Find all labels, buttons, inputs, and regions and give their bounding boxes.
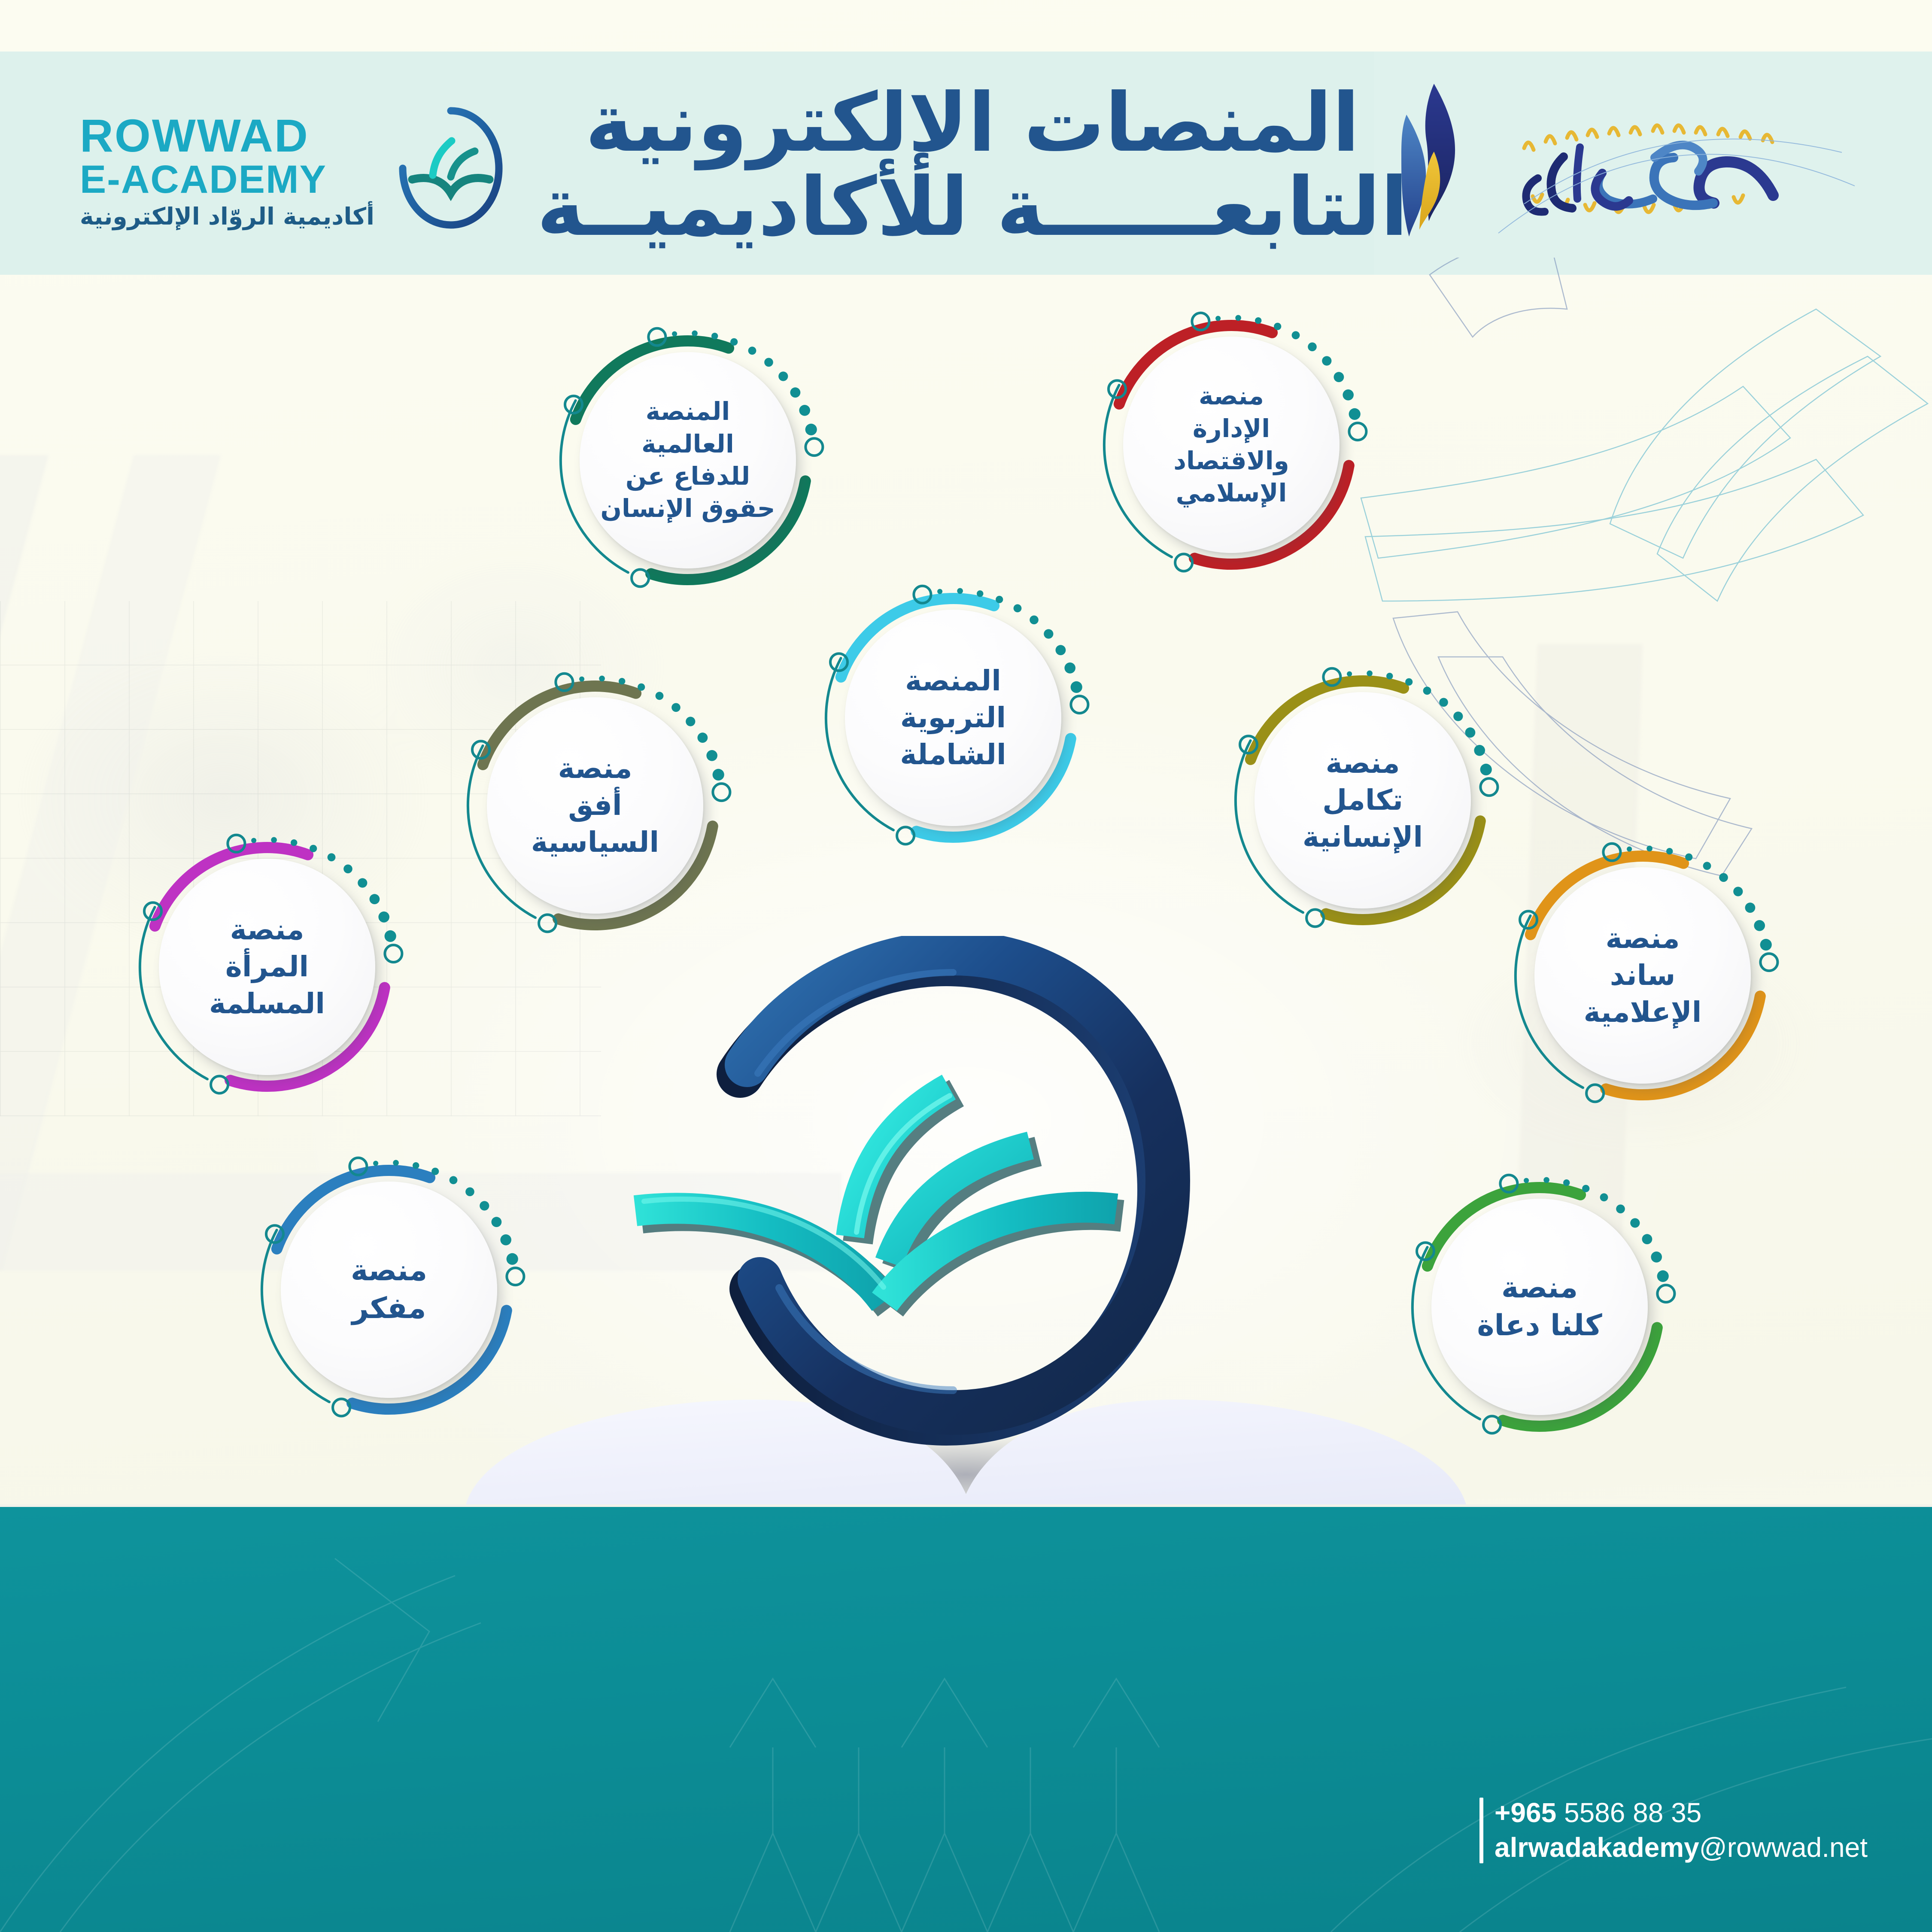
badge-node-ring — [1349, 423, 1366, 440]
badge-dot — [1657, 1270, 1669, 1282]
page-title-line1: المنصات الإلكترونية — [585, 81, 1360, 165]
badge-label-comprehensive-education: المنصةالتربويةالشاملة — [849, 610, 1057, 826]
badge-dot — [492, 1217, 502, 1227]
badge-label-line: العالمية — [641, 428, 734, 460]
badge-node-ring — [1071, 696, 1088, 713]
contact-accent-bar — [1479, 1798, 1483, 1863]
badge-dot — [370, 894, 380, 904]
badge-node-ring — [713, 784, 730, 801]
brand-name-line1: ROWWAD — [80, 112, 309, 159]
badge-dot — [1646, 846, 1653, 852]
badge-label-line: الإسلامي — [1176, 477, 1287, 509]
badge-node-ring — [1306, 909, 1324, 927]
badge-dot — [1474, 745, 1485, 756]
badge-node-ring — [805, 438, 823, 456]
badge-dot — [706, 750, 717, 761]
badge-dot — [431, 1168, 439, 1175]
contact-block: +965 5586 88 35 alrwadakademy@rowwad.net — [1479, 1798, 1868, 1863]
badge-label-line: منصة — [1606, 920, 1680, 957]
badge-dot — [1274, 323, 1281, 330]
badge-dot — [1524, 1178, 1529, 1183]
badge-dot — [1754, 920, 1765, 931]
badge-dot — [1367, 671, 1373, 677]
rowwad-logo-icon — [386, 103, 515, 232]
badge-dot — [373, 1161, 378, 1166]
badge-dot — [711, 333, 718, 339]
badge-label-line: حقوق الإنسان — [600, 492, 775, 525]
badge-dot — [413, 1162, 419, 1169]
badge-label-line: منصة — [230, 911, 304, 948]
badge-dot — [1760, 939, 1772, 951]
page-title: المنصات الإلكترونية التابعــــــة للأكاد… — [575, 58, 1370, 273]
academy-logo: ROWWAD E-ACADEMY أكاديمية الروّاد الإلكت… — [64, 77, 515, 258]
email-user: alrwadakademy — [1495, 1832, 1699, 1863]
badge-dot — [977, 590, 983, 597]
badge-dot — [1666, 848, 1673, 854]
badge-dot — [996, 596, 1003, 603]
badge-label-line: أفق — [568, 787, 622, 824]
badge-dot — [692, 331, 698, 337]
badge-dot — [251, 838, 256, 843]
badge-dot — [1563, 1179, 1570, 1186]
badge-node-ring — [507, 1268, 524, 1285]
badge-dot — [271, 837, 277, 843]
badge-label-line: منصة — [558, 750, 632, 787]
badge-node-ring — [1480, 778, 1498, 796]
badge-node-ring — [897, 827, 914, 844]
badge-label-line: السياسية — [531, 824, 659, 861]
badge-dot — [638, 683, 645, 691]
badge-dot — [1651, 1252, 1662, 1263]
badge-dot — [698, 732, 708, 743]
badge-label-mufakker: منصةمفكر — [285, 1182, 493, 1398]
badge-dot — [1235, 315, 1241, 321]
takween-flame-icon — [1370, 79, 1468, 251]
badge-label-humanity-integration: منصةتكاملالإنسانية — [1259, 692, 1467, 908]
badge-dot — [1386, 673, 1393, 679]
badge-label-line: التربوية — [900, 699, 1006, 736]
badge-label-muslim-woman: منصةالمرأةالمسلمة — [163, 859, 371, 1075]
infographic-poster: ROWWAD E-ACADEMY أكاديمية الروّاد الإلكت… — [0, 0, 1932, 1932]
badge-dot — [500, 1234, 511, 1245]
badge-dot — [378, 911, 389, 923]
badge-dot — [1071, 681, 1082, 693]
footer-divider — [0, 1504, 1932, 1507]
badge-dot — [1347, 671, 1352, 677]
badge-dot — [957, 588, 963, 594]
badge-dot — [1465, 727, 1476, 738]
phone-number: 5586 88 35 — [1564, 1797, 1701, 1828]
platform-badge-political-horizon[interactable]: منصةأفقالسياسية — [458, 668, 732, 943]
badge-label-islamic-management-economy: منصةالإدارةوالاقتصادالإسلامي — [1127, 337, 1335, 553]
badge-node-ring — [1586, 1084, 1604, 1102]
badge-label-line: الشاملة — [900, 736, 1006, 773]
badge-dot — [713, 769, 724, 781]
badge-dot — [1215, 316, 1221, 321]
badge-node-ring — [632, 569, 649, 586]
badge-label-line: المنصة — [905, 662, 1001, 699]
email-line[interactable]: alrwadakademy@rowwad.net — [1495, 1832, 1868, 1863]
badge-node-ring — [333, 1399, 350, 1416]
badge-node-ring — [1657, 1285, 1674, 1302]
page-title-line2: التابعــــــة للأكاديميــة — [537, 165, 1408, 249]
email-domain: @rowwad.net — [1699, 1832, 1868, 1863]
badge-label-sanad-media: منصةساندالإعلامية — [1539, 867, 1747, 1084]
phone-prefix: +965 — [1495, 1797, 1556, 1828]
badge-dot — [599, 676, 605, 682]
badge-dot — [291, 839, 297, 846]
badge-dot — [507, 1253, 518, 1265]
phone-line[interactable]: +965 5586 88 35 — [1495, 1798, 1868, 1829]
platform-badge-muslim-woman[interactable]: منصةالمرأةالمسلمة — [130, 829, 404, 1104]
badge-dot — [619, 678, 625, 684]
badge-dot — [1343, 389, 1354, 401]
badge-dot — [1543, 1177, 1549, 1183]
badge-dot — [1627, 847, 1632, 852]
badge-dot — [1745, 902, 1756, 913]
footer-band — [0, 1507, 1932, 1932]
badge-dot — [1255, 317, 1261, 324]
badge-node-ring — [211, 1076, 228, 1093]
badge-dot — [790, 387, 801, 398]
badge-label-line: الإدارة — [1193, 413, 1270, 445]
badge-dot — [805, 424, 817, 435]
badge-label-line: مفكر — [352, 1290, 426, 1327]
badge-dot — [393, 1160, 399, 1166]
badge-dot — [799, 405, 810, 416]
badge-label-line: منصة — [1326, 745, 1400, 782]
badge-label-line: والاقتصاد — [1173, 445, 1289, 477]
badge-dot — [1685, 854, 1692, 861]
badge-label-line: منصة — [1501, 1269, 1578, 1307]
badge-dot — [1056, 645, 1066, 655]
badge-label-line: المسلمة — [209, 985, 325, 1022]
badge-label-line: كلنا دعاة — [1477, 1307, 1602, 1345]
badge-dot — [730, 338, 738, 346]
badge-label-line: ساند — [1610, 957, 1676, 994]
badge-dot — [1405, 678, 1413, 686]
brand-name-arabic: أكاديمية الروّاد الإلكترونية — [80, 203, 374, 230]
badge-label-line: تكامل — [1322, 782, 1403, 819]
badge-label-line: الإعلامية — [1584, 994, 1702, 1031]
badge-dot — [385, 930, 396, 942]
badge-label-line: المنصة — [646, 395, 730, 428]
badge-label-line: منصة — [351, 1252, 427, 1290]
badge-label-line: الإنسانية — [1303, 819, 1423, 856]
brand-name-line2: E-ACADEMY — [80, 159, 327, 200]
badge-dot — [1582, 1185, 1589, 1192]
platform-badge-comprehensive-education[interactable]: المنصةالتربويةالشاملة — [816, 580, 1091, 855]
badge-dot — [579, 677, 584, 682]
badge-label-line: للدفاع عن — [626, 460, 750, 492]
badge-dot — [1334, 372, 1344, 382]
footer-pattern — [0, 1507, 1932, 1932]
badge-node-ring — [1760, 954, 1777, 971]
platform-badge-global-human-rights[interactable]: المنصةالعالميةللدفاع عنحقوق الإنسان — [550, 323, 825, 598]
badge-label-line: منصة — [1199, 380, 1264, 412]
badge-label-political-horizon: منصةأفقالسياسية — [491, 697, 699, 914]
badge-node-ring — [1175, 554, 1192, 571]
badge-node-ring — [539, 914, 556, 932]
partner-logo — [1370, 75, 1876, 255]
badge-dot — [1349, 408, 1361, 420]
badge-dot — [1642, 1234, 1653, 1244]
badge-dot — [937, 589, 942, 594]
badge-node-ring — [385, 945, 402, 962]
badge-dot — [1480, 764, 1492, 775]
badge-dot — [310, 845, 317, 852]
rowwad-3d-logo-icon — [610, 936, 1297, 1494]
badge-dot — [1064, 662, 1075, 674]
platform-badge-sanad-media[interactable]: منصةساندالإعلامية — [1505, 838, 1780, 1113]
takween-calligraphy-icon — [1473, 97, 1859, 234]
platform-badge-humanity-integration[interactable]: منصةتكاملالإنسانية — [1225, 663, 1500, 938]
platform-badge-islamic-management-economy[interactable]: منصةالإدارةوالاقتصادالإسلامي — [1094, 307, 1369, 582]
badge-label-global-human-rights: المنصةالعالميةللدفاع عنحقوق الإنسان — [584, 352, 792, 568]
badge-label-line: المرأة — [225, 948, 309, 985]
badge-dot — [672, 331, 677, 337]
